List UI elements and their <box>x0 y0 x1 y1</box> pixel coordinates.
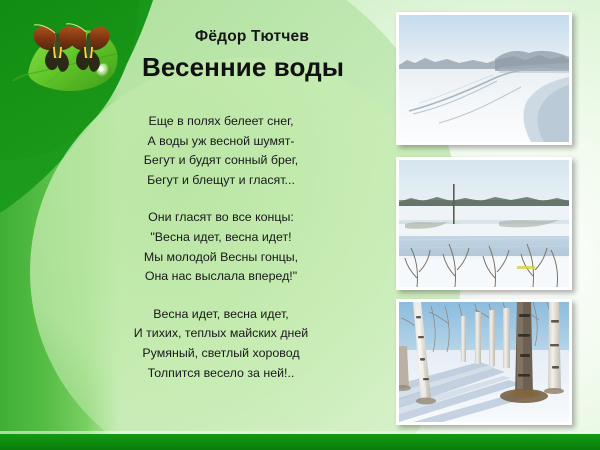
photo-birch-grove: Берёзовая роща в снегу с синими тенями <box>396 299 572 425</box>
poem-stanza: Еще в полях белеет снег, А воды уж весно… <box>96 112 346 190</box>
poem-line: Они гласят во все концы: <box>96 208 346 228</box>
poem-line: Бегут и блещут и гласят... <box>96 171 346 191</box>
bottom-green-bar <box>0 434 600 450</box>
photo-flooded-field: Разлив талой воды на заснеженном поле, г… <box>396 157 572 290</box>
poem-line: Еще в полях белеет снег, <box>96 112 346 132</box>
poem-line: Румяный, светлый хоровод <box>96 344 346 364</box>
poem-line: Мы молодой Весны гонцы, <box>96 248 346 268</box>
poem-line: Весна идет, весна идет, <box>96 305 346 325</box>
poem-line: А воды уж весной шумят- <box>96 132 346 152</box>
photo-frozen-river: Снежное поле и замёрзшая река с трещиной… <box>396 12 572 145</box>
poem-line: Бегут и будят сонный брег, <box>96 151 346 171</box>
poem-line: Толпится весело за ней!.. <box>96 364 346 384</box>
poem-line: Она нас выслала вперед!" <box>96 267 346 287</box>
poem-line: И тихих, теплых майских дней <box>96 324 346 344</box>
page-title: Весенние воды <box>96 52 390 83</box>
poem-stanza: Весна идет, весна идет, И тихих, теплых … <box>96 305 346 383</box>
author-name: Фёдор Тютчев <box>118 28 386 46</box>
poem-text: Еще в полях белеет снег, А воды уж весно… <box>96 112 346 383</box>
poem-line: "Весна идет, весна идет! <box>96 228 346 248</box>
poem-stanza: Они гласят во все концы: "Весна идет, ве… <box>96 208 346 286</box>
presentation-slide: Фёдор Тютчев Весенние воды Еще в полях б… <box>0 0 600 450</box>
